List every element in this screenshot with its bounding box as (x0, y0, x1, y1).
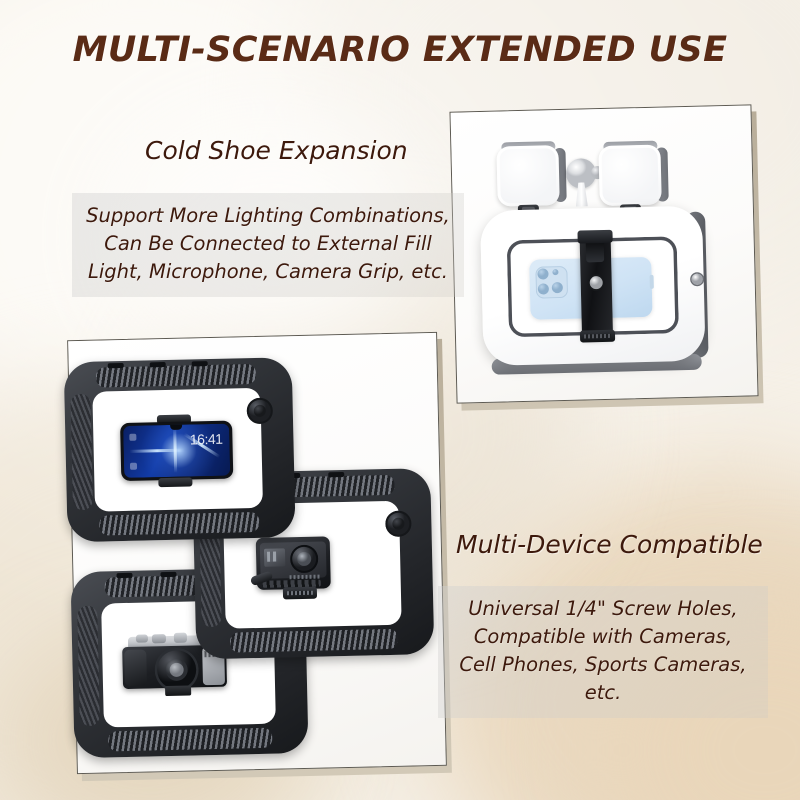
multi-device-line-4: etc. (448, 679, 758, 707)
product-infographic: MULTI-SCENARIO EXTENDED USE (0, 0, 800, 800)
rig2-cold-shoe-3 (328, 472, 344, 477)
cold-shoe-line-2: Can Be Connected to External Fill (82, 230, 454, 258)
rig-frame-smartphone: 16:41 (64, 357, 296, 542)
rig1-side-grip (70, 394, 93, 510)
page-title: MULTI-SCENARIO EXTENDED USE (0, 30, 800, 70)
rig1-cold-shoe-1 (108, 363, 124, 368)
rig3-cold-shoe-1 (116, 573, 132, 578)
smartphone-camera-module-icon (535, 266, 568, 299)
smartphone-side-button (650, 275, 654, 289)
rig1-cold-shoe-3 (192, 361, 208, 366)
phone-clamp-top-jaw (577, 230, 612, 244)
rig1-tighten-knob-icon (247, 398, 274, 425)
section-body-cold-shoe: Support More Lighting Combinations, Can … (72, 193, 464, 297)
led-panel-left-icon (496, 145, 559, 206)
led-panel-right-icon (598, 145, 661, 206)
rig1-bottom-chevron-grip (99, 512, 259, 536)
rig3-bottom-chevron-grip (108, 728, 272, 752)
multi-device-line-1: Universal 1/4" Screw Holes, (448, 595, 758, 623)
rig2-bottom-chevron-grip (230, 629, 398, 653)
rig2-tighten-knob-icon (385, 510, 412, 537)
rig1-cold-shoe-2 (150, 362, 166, 367)
rig3-cold-shoe-2 (160, 572, 176, 577)
smartphone-clock-time: 16:41 (190, 432, 223, 447)
cold-shoe-line-1: Support More Lighting Combinations, (82, 202, 454, 230)
action-camera-icon (256, 536, 331, 590)
cold-shoe-line-3: Light, Microphone, Camera Grip, etc. (82, 258, 454, 286)
ring-light-product-photo (450, 104, 757, 401)
rig3-side-grip (77, 606, 100, 726)
rig-frames-product-photo: 16:41 (67, 332, 445, 772)
rig1-clamp-bottom (158, 477, 192, 487)
smartphone-clock-date (220, 449, 222, 454)
phone-clamp-bottom-jaw (580, 330, 615, 343)
smartphone-screen: 16:41 (123, 424, 230, 478)
section-heading-cold-shoe: Cold Shoe Expansion (145, 136, 408, 165)
section-body-multi-device: Universal 1/4" Screw Holes, Compatible w… (438, 586, 768, 718)
smartphone-landscape-icon: 16:41 (120, 421, 233, 482)
section-heading-multi-device: Multi-Device Compatible (456, 530, 763, 559)
multi-device-line-3: Cell Phones, Sports Cameras, (448, 651, 758, 679)
multi-device-line-2: Compatible with Cameras, (448, 623, 758, 651)
